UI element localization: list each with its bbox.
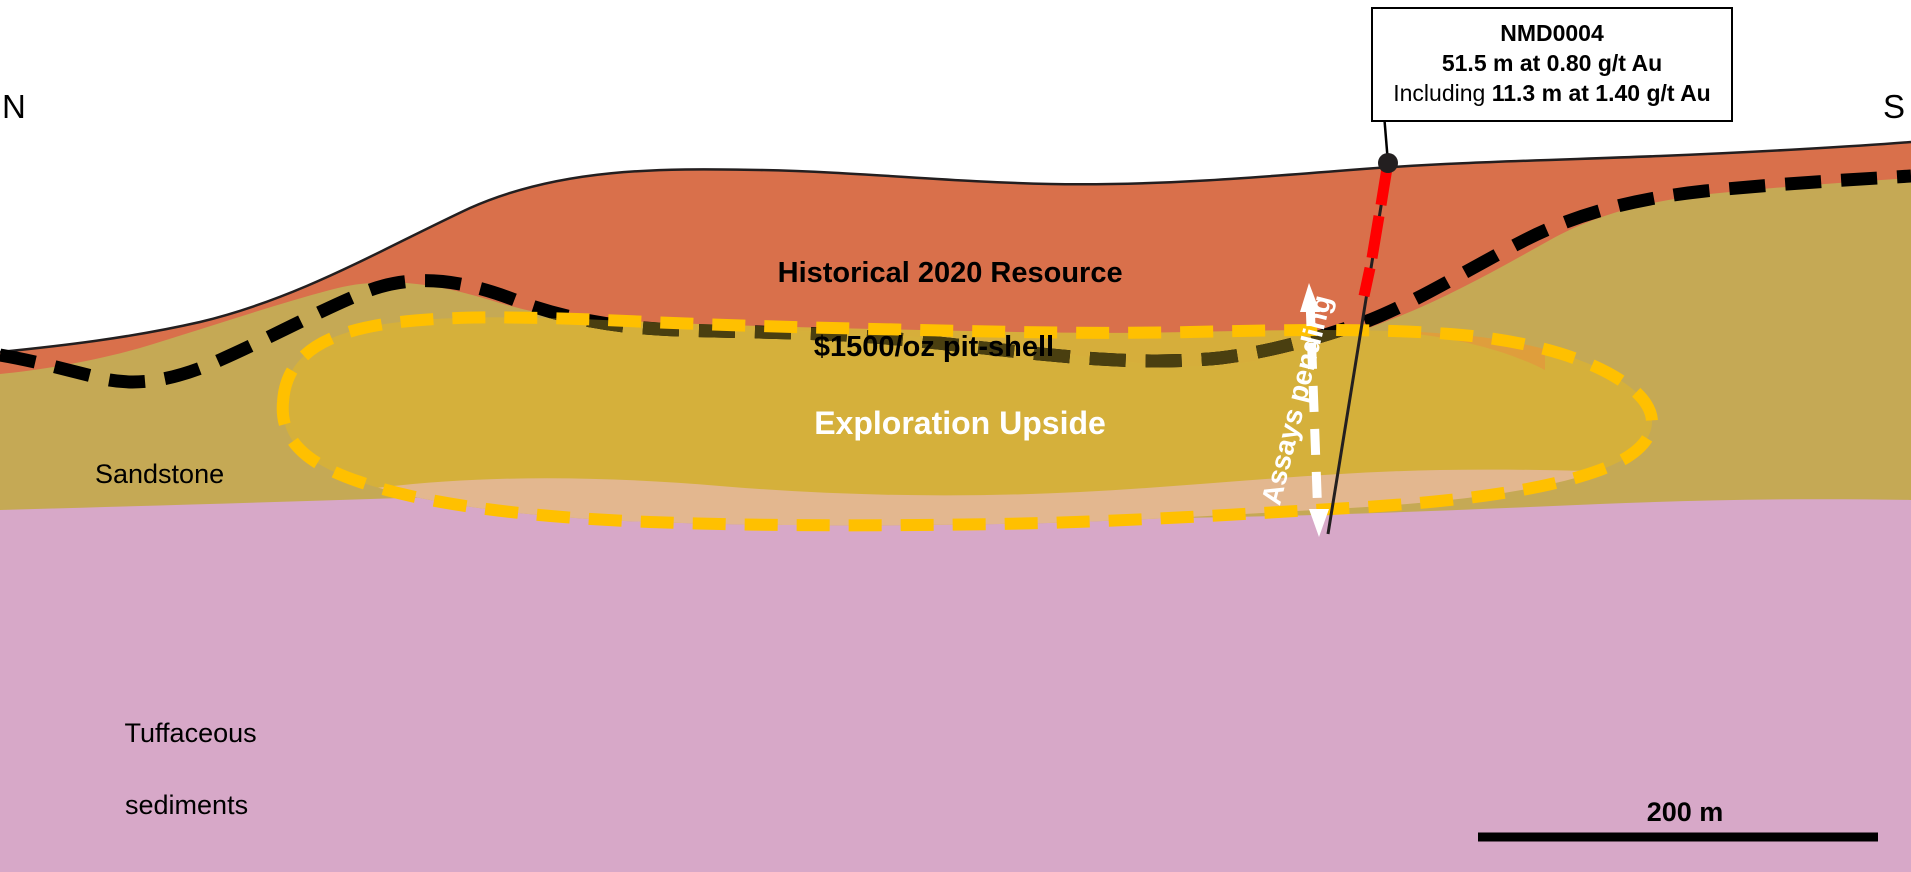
unit-label-tuffaceous-line1: Tuffaceous — [125, 718, 257, 748]
drill-collar-dot — [1378, 153, 1398, 173]
callout-hole-id: NMD0004 — [1383, 18, 1721, 48]
cross-section-figure: N S Historical 2020 Resource $1500/oz pi… — [0, 0, 1911, 872]
pit-shell-annotation-line1: Historical 2020 Resource — [778, 257, 1123, 289]
assay-interval-3 — [1364, 268, 1370, 296]
drill-hole-callout-nmd0004: NMD0004 51.5 m at 0.80 g/t Au Including … — [1371, 7, 1733, 122]
callout-including: Including 11.3 m at 1.40 g/t Au — [1383, 78, 1721, 108]
compass-label-south: S — [1883, 88, 1905, 126]
assay-interval-1 — [1381, 168, 1387, 205]
unit-label-sandstone: Sandstone — [95, 459, 224, 490]
callout-including-prefix: Including — [1393, 80, 1491, 106]
unit-label-tuffaceous: Tuffaceous sediments — [95, 679, 257, 859]
callout-including-value: 11.3 m at 1.40 g/t Au — [1492, 80, 1711, 106]
scale-bar-label: 200 m — [1647, 797, 1724, 828]
pit-shell-annotation-line2: $1500/oz pit-shell — [745, 329, 1122, 366]
unit-label-tuffaceous-line2: sediments — [125, 790, 248, 820]
exploration-upside-label: Exploration Upside — [814, 405, 1106, 442]
assay-interval-2 — [1372, 216, 1379, 258]
compass-label-north: N — [2, 88, 26, 126]
callout-intercept: 51.5 m at 0.80 g/t Au — [1383, 48, 1721, 78]
